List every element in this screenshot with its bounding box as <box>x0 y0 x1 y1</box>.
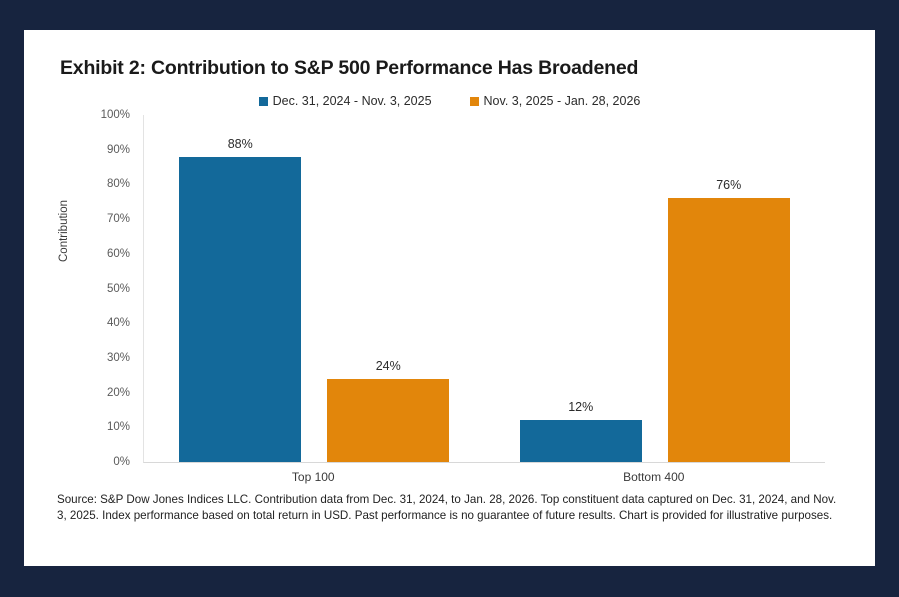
bar-top-100-series-1[interactable] <box>327 379 449 462</box>
y-axis-tick-label: 70% <box>107 213 130 225</box>
source-note: Source: S&P Dow Jones Indices LLC. Contr… <box>57 492 847 523</box>
y-axis-tick-label: 40% <box>107 317 130 329</box>
bar-value-label: 76% <box>716 178 741 192</box>
y-axis-title: Contribution <box>58 200 70 262</box>
chart-card: Exhibit 2: Contribution to S&P 500 Perfo… <box>24 30 875 566</box>
bar-top-100-series-0[interactable] <box>179 157 301 462</box>
y-axis-tick-label: 30% <box>107 352 130 364</box>
bar-value-label: 88% <box>228 137 253 151</box>
y-axis-tick-label: 80% <box>107 178 130 190</box>
y-axis-tick-label: 0% <box>113 456 130 468</box>
y-axis-tick-label: 20% <box>107 387 130 399</box>
y-axis-tick-labels: 0%10%20%30%40%50%60%70%80%90%100% <box>80 115 136 462</box>
bar-value-label: 12% <box>568 400 593 414</box>
plot-area: 88%24%12%76% <box>143 115 825 463</box>
y-axis-tick-label: 60% <box>107 248 130 260</box>
bar-value-label: 24% <box>376 359 401 373</box>
y-axis-tick-label: 90% <box>107 144 130 156</box>
chart-plot-wrapper: Contribution 0%10%20%30%40%50%60%70%80%9… <box>24 30 875 566</box>
slide-background: Exhibit 2: Contribution to S&P 500 Perfo… <box>0 0 899 597</box>
bar-bottom-400-series-0[interactable] <box>520 420 642 462</box>
bar-bottom-400-series-1[interactable] <box>668 198 790 462</box>
y-axis-tick-label: 100% <box>101 109 130 121</box>
x-axis-category-label: Bottom 400 <box>623 470 684 484</box>
x-axis-category-label: Top 100 <box>292 470 335 484</box>
y-axis-tick-label: 10% <box>107 421 130 433</box>
y-axis-tick-label: 50% <box>107 283 130 295</box>
